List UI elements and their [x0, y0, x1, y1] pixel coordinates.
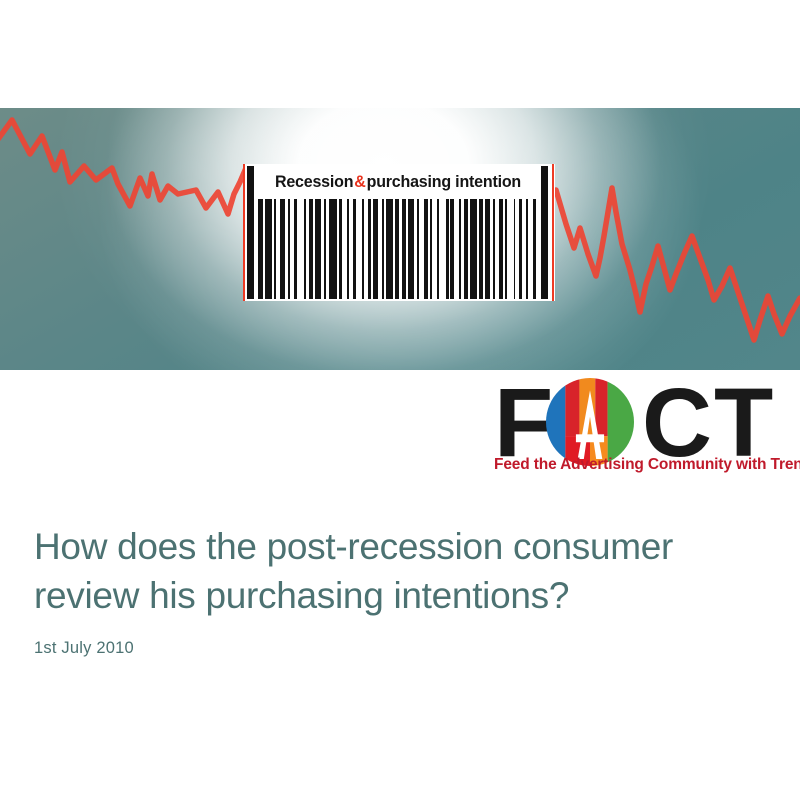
barcode-bar [536, 199, 538, 299]
barcode-rail-right-icon [552, 164, 554, 301]
barcode-bar [439, 199, 446, 299]
slide-title: How does the post-recession consumer rev… [34, 522, 764, 620]
barcode-cap-right-icon [541, 166, 548, 299]
title-slide: Recession & purchasing intention F C T [0, 0, 800, 800]
barcode-cap-left-icon [247, 166, 254, 299]
barcode-bars [258, 199, 538, 299]
fact-tagline: Feed the Advertising Community with Tren… [494, 456, 800, 474]
slide-date: 1st July 2010 [34, 639, 764, 658]
banner-headline: Recession & purchasing intention [264, 168, 532, 196]
barcode-graphic: Recession & purchasing intention [243, 164, 555, 301]
banner-headline-part2: purchasing intention [367, 173, 521, 192]
logo-letter-a-colorwheel-icon [546, 378, 634, 466]
barcode-bar [297, 199, 304, 299]
recession-banner: Recession & purchasing intention [0, 108, 800, 370]
slide-title-line1: How does the post-recession consumer [34, 526, 673, 567]
slide-title-line2: review his purchasing intentions? [34, 575, 569, 616]
banner-headline-ampersand: & [353, 173, 366, 192]
barcode-bar [329, 199, 337, 299]
barcode-rail-left-icon [243, 164, 245, 301]
title-block: How does the post-recession consumer rev… [34, 522, 764, 658]
fact-logo: F C T [492, 372, 792, 480]
banner-headline-part1: Recession [275, 173, 353, 192]
barcode-bar [386, 199, 393, 299]
fact-wordmark: F C T [492, 372, 792, 454]
